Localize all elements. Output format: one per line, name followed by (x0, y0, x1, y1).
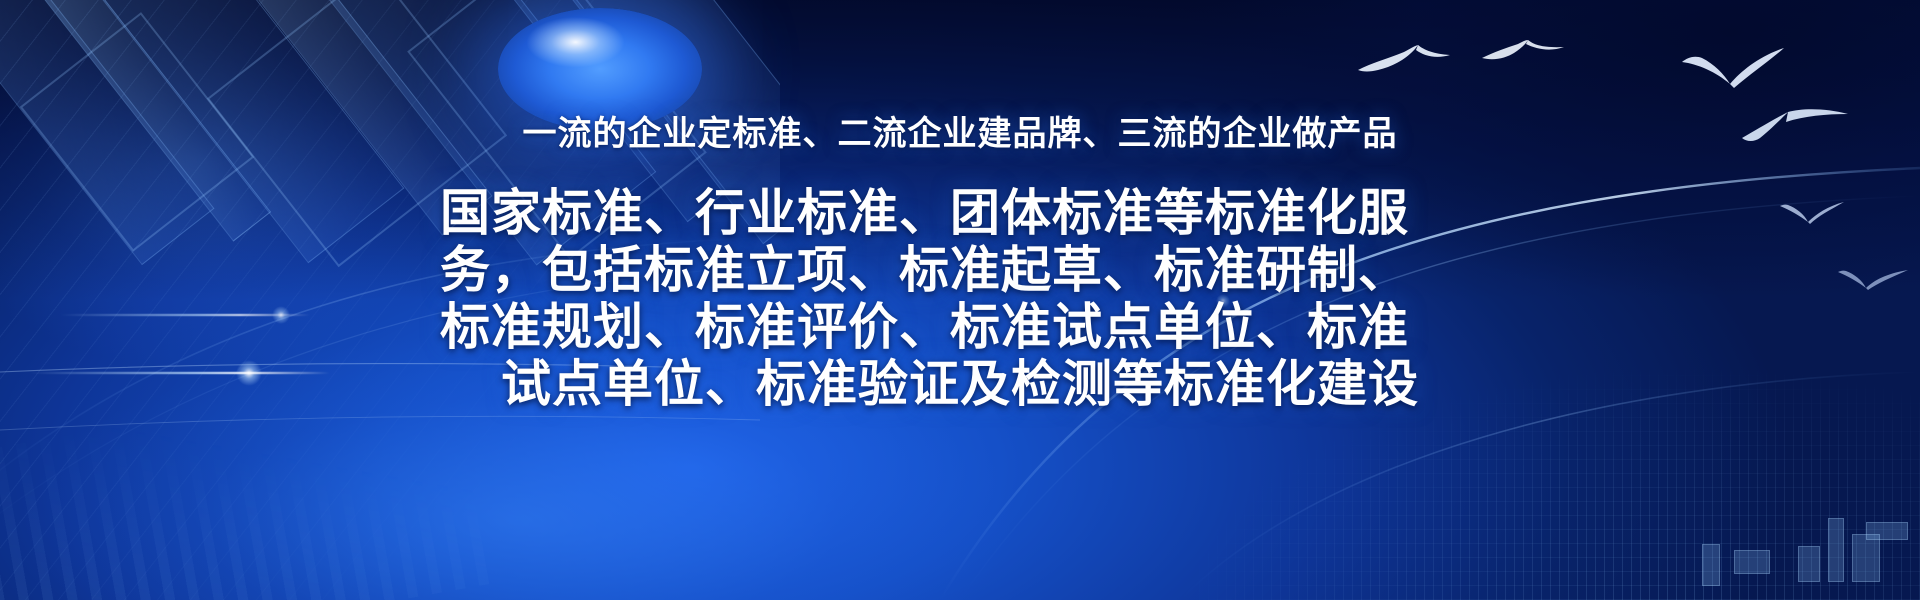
banner-body-line: 标准规划、标准评价、标准试点单位、标准 (440, 299, 1480, 356)
banner-body-line: 试点单位、标准验证及检测等标准化建设 (440, 356, 1480, 413)
banner-body-line: 国家标准、行业标准、团体标准等标准化服 (440, 185, 1480, 242)
hero-banner: 一流的企业定标准、二流企业建品牌、三流的企业做产品 国家标准、行业标准、团体标准… (0, 0, 1920, 600)
banner-body: 国家标准、行业标准、团体标准等标准化服 务，包括标准立项、标准起草、标准研制、 … (440, 185, 1480, 413)
banner-headline: 一流的企业定标准、二流企业建品牌、三流的企业做产品 (523, 114, 1398, 155)
banner-body-line: 务，包括标准立项、标准起草、标准研制、 (440, 242, 1480, 299)
text-layer: 一流的企业定标准、二流企业建品牌、三流的企业做产品 国家标准、行业标准、团体标准… (0, 0, 1920, 600)
